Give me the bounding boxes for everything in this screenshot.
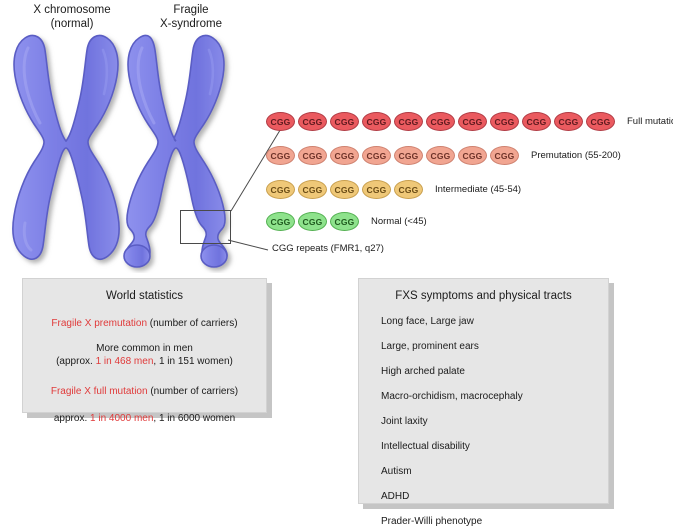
cgg-repeat-unit: CGG xyxy=(394,180,423,199)
premutation-heading-rest: (number of carriers) xyxy=(147,318,238,329)
cgg-repeat-unit: CGG xyxy=(458,146,487,165)
symptom-item: High arched palate xyxy=(381,366,608,377)
symptom-item: Autism xyxy=(381,466,608,477)
premutation-heading: Fragile X premutation (number of carrier… xyxy=(23,317,266,330)
cgg-repeat-unit: CGG xyxy=(490,112,519,131)
cgg-repeat-unit: CGG xyxy=(458,112,487,131)
cgg-row-normal: CGGCGGCGG Normal (<45) xyxy=(266,212,427,231)
cgg-repeat-unit: CGG xyxy=(426,112,455,131)
cgg-row-label-int: Intermediate (45-54) xyxy=(435,184,521,195)
cgg-group-pre: CGGCGGCGGCGGCGGCGGCGGCGG xyxy=(266,146,522,165)
symptoms-title: FXS symptoms and physical tracts xyxy=(359,290,608,302)
symptom-item: Joint laxity xyxy=(381,416,608,427)
fullmutation-heading: Fragile X full mutation (number of carri… xyxy=(23,385,266,398)
cgg-repeat-unit: CGG xyxy=(522,112,551,131)
premutation-rate-men: 1 in 468 men xyxy=(96,356,154,367)
premutation-rates: (approx. 1 in 468 men, 1 in 151 women) xyxy=(23,355,266,368)
cgg-group-int: CGGCGGCGGCGGCGG xyxy=(266,180,426,199)
fullmutation-heading-accent: Fragile X full mutation xyxy=(51,386,148,397)
premutation-heading-accent: Fragile X premutation xyxy=(51,318,147,329)
cgg-repeat-unit: CGG xyxy=(298,212,327,231)
cgg-repeat-unit: CGG xyxy=(330,180,359,199)
cgg-row-full-mutation: CGGCGGCGGCGGCGGCGGCGGCGGCGGCGGCGG Full m… xyxy=(266,112,673,131)
cgg-group-full: CGGCGGCGGCGGCGGCGGCGGCGGCGGCGGCGG xyxy=(266,112,618,131)
cgg-row-label-norm: Normal (<45) xyxy=(371,216,427,227)
cgg-repeat-unit: CGG xyxy=(266,180,295,199)
cgg-repeat-unit: CGG xyxy=(362,112,391,131)
cgg-repeat-unit: CGG xyxy=(394,146,423,165)
fragile-site-label: CGG repeats (FMR1, q27) xyxy=(272,243,384,254)
world-statistics-panel: World statistics Fragile X premutation (… xyxy=(22,278,267,413)
cgg-repeat-unit: CGG xyxy=(266,112,295,131)
symptom-item: Intellectual disability xyxy=(381,441,608,452)
cgg-repeat-unit: CGG xyxy=(362,180,391,199)
cgg-repeat-unit: CGG xyxy=(266,212,295,231)
fragile-x-infographic: X chromosome (normal) Fragile X-syndrome xyxy=(0,0,673,516)
symptom-item: Large, prominent ears xyxy=(381,341,608,352)
cgg-repeat-unit: CGG xyxy=(298,146,327,165)
fullmutation-rate-women: , 1 in 6000 women xyxy=(153,413,235,424)
fullmutation-heading-rest: (number of carriers) xyxy=(148,386,239,397)
cgg-repeat-unit: CGG xyxy=(362,146,391,165)
symptom-list: Long face, Large jawLarge, prominent ear… xyxy=(359,316,608,527)
symptoms-panel: FXS symptoms and physical tracts Long fa… xyxy=(358,278,609,504)
cgg-row-intermediate: CGGCGGCGGCGGCGG Intermediate (45-54) xyxy=(266,180,521,199)
world-statistics-title: World statistics xyxy=(23,290,266,302)
cgg-repeat-unit: CGG xyxy=(490,146,519,165)
fullmutation-rate-men: 1 in 4000 men xyxy=(90,413,153,424)
cgg-repeat-unit: CGG xyxy=(266,146,295,165)
cgg-repeat-unit: CGG xyxy=(586,112,615,131)
symptom-item: Macro-orchidism, macrocephaly xyxy=(381,391,608,402)
cgg-repeat-unit: CGG xyxy=(426,146,455,165)
cgg-row-label-pre: Premutation (55-200) xyxy=(531,150,621,161)
cgg-repeat-unit: CGG xyxy=(554,112,583,131)
fullmutation-rates: approx. 1 in 4000 men, 1 in 6000 women xyxy=(23,412,266,425)
cgg-row-premutation: CGGCGGCGGCGGCGGCGGCGGCGG Premutation (55… xyxy=(266,146,621,165)
cgg-repeat-unit: CGG xyxy=(394,112,423,131)
premutation-common-line: More common in men xyxy=(23,342,266,355)
cgg-repeat-unit: CGG xyxy=(298,112,327,131)
premutation-rate-women: , 1 in 151 women) xyxy=(153,356,233,367)
cgg-repeat-unit: CGG xyxy=(298,180,327,199)
symptom-item: Prader-Willi phenotype xyxy=(381,516,608,527)
cgg-row-label-full: Full mutation (>200) xyxy=(627,116,673,127)
cgg-repeat-unit: CGG xyxy=(330,112,359,131)
cgg-repeat-unit: CGG xyxy=(330,146,359,165)
symptom-item: ADHD xyxy=(381,491,608,502)
fullmutation-rates-prefix: approx. xyxy=(54,413,90,424)
symptom-item: Long face, Large jaw xyxy=(381,316,608,327)
cgg-repeat-unit: CGG xyxy=(330,212,359,231)
premutation-rates-prefix: (approx. xyxy=(56,356,95,367)
cgg-group-norm: CGGCGGCGG xyxy=(266,212,362,231)
